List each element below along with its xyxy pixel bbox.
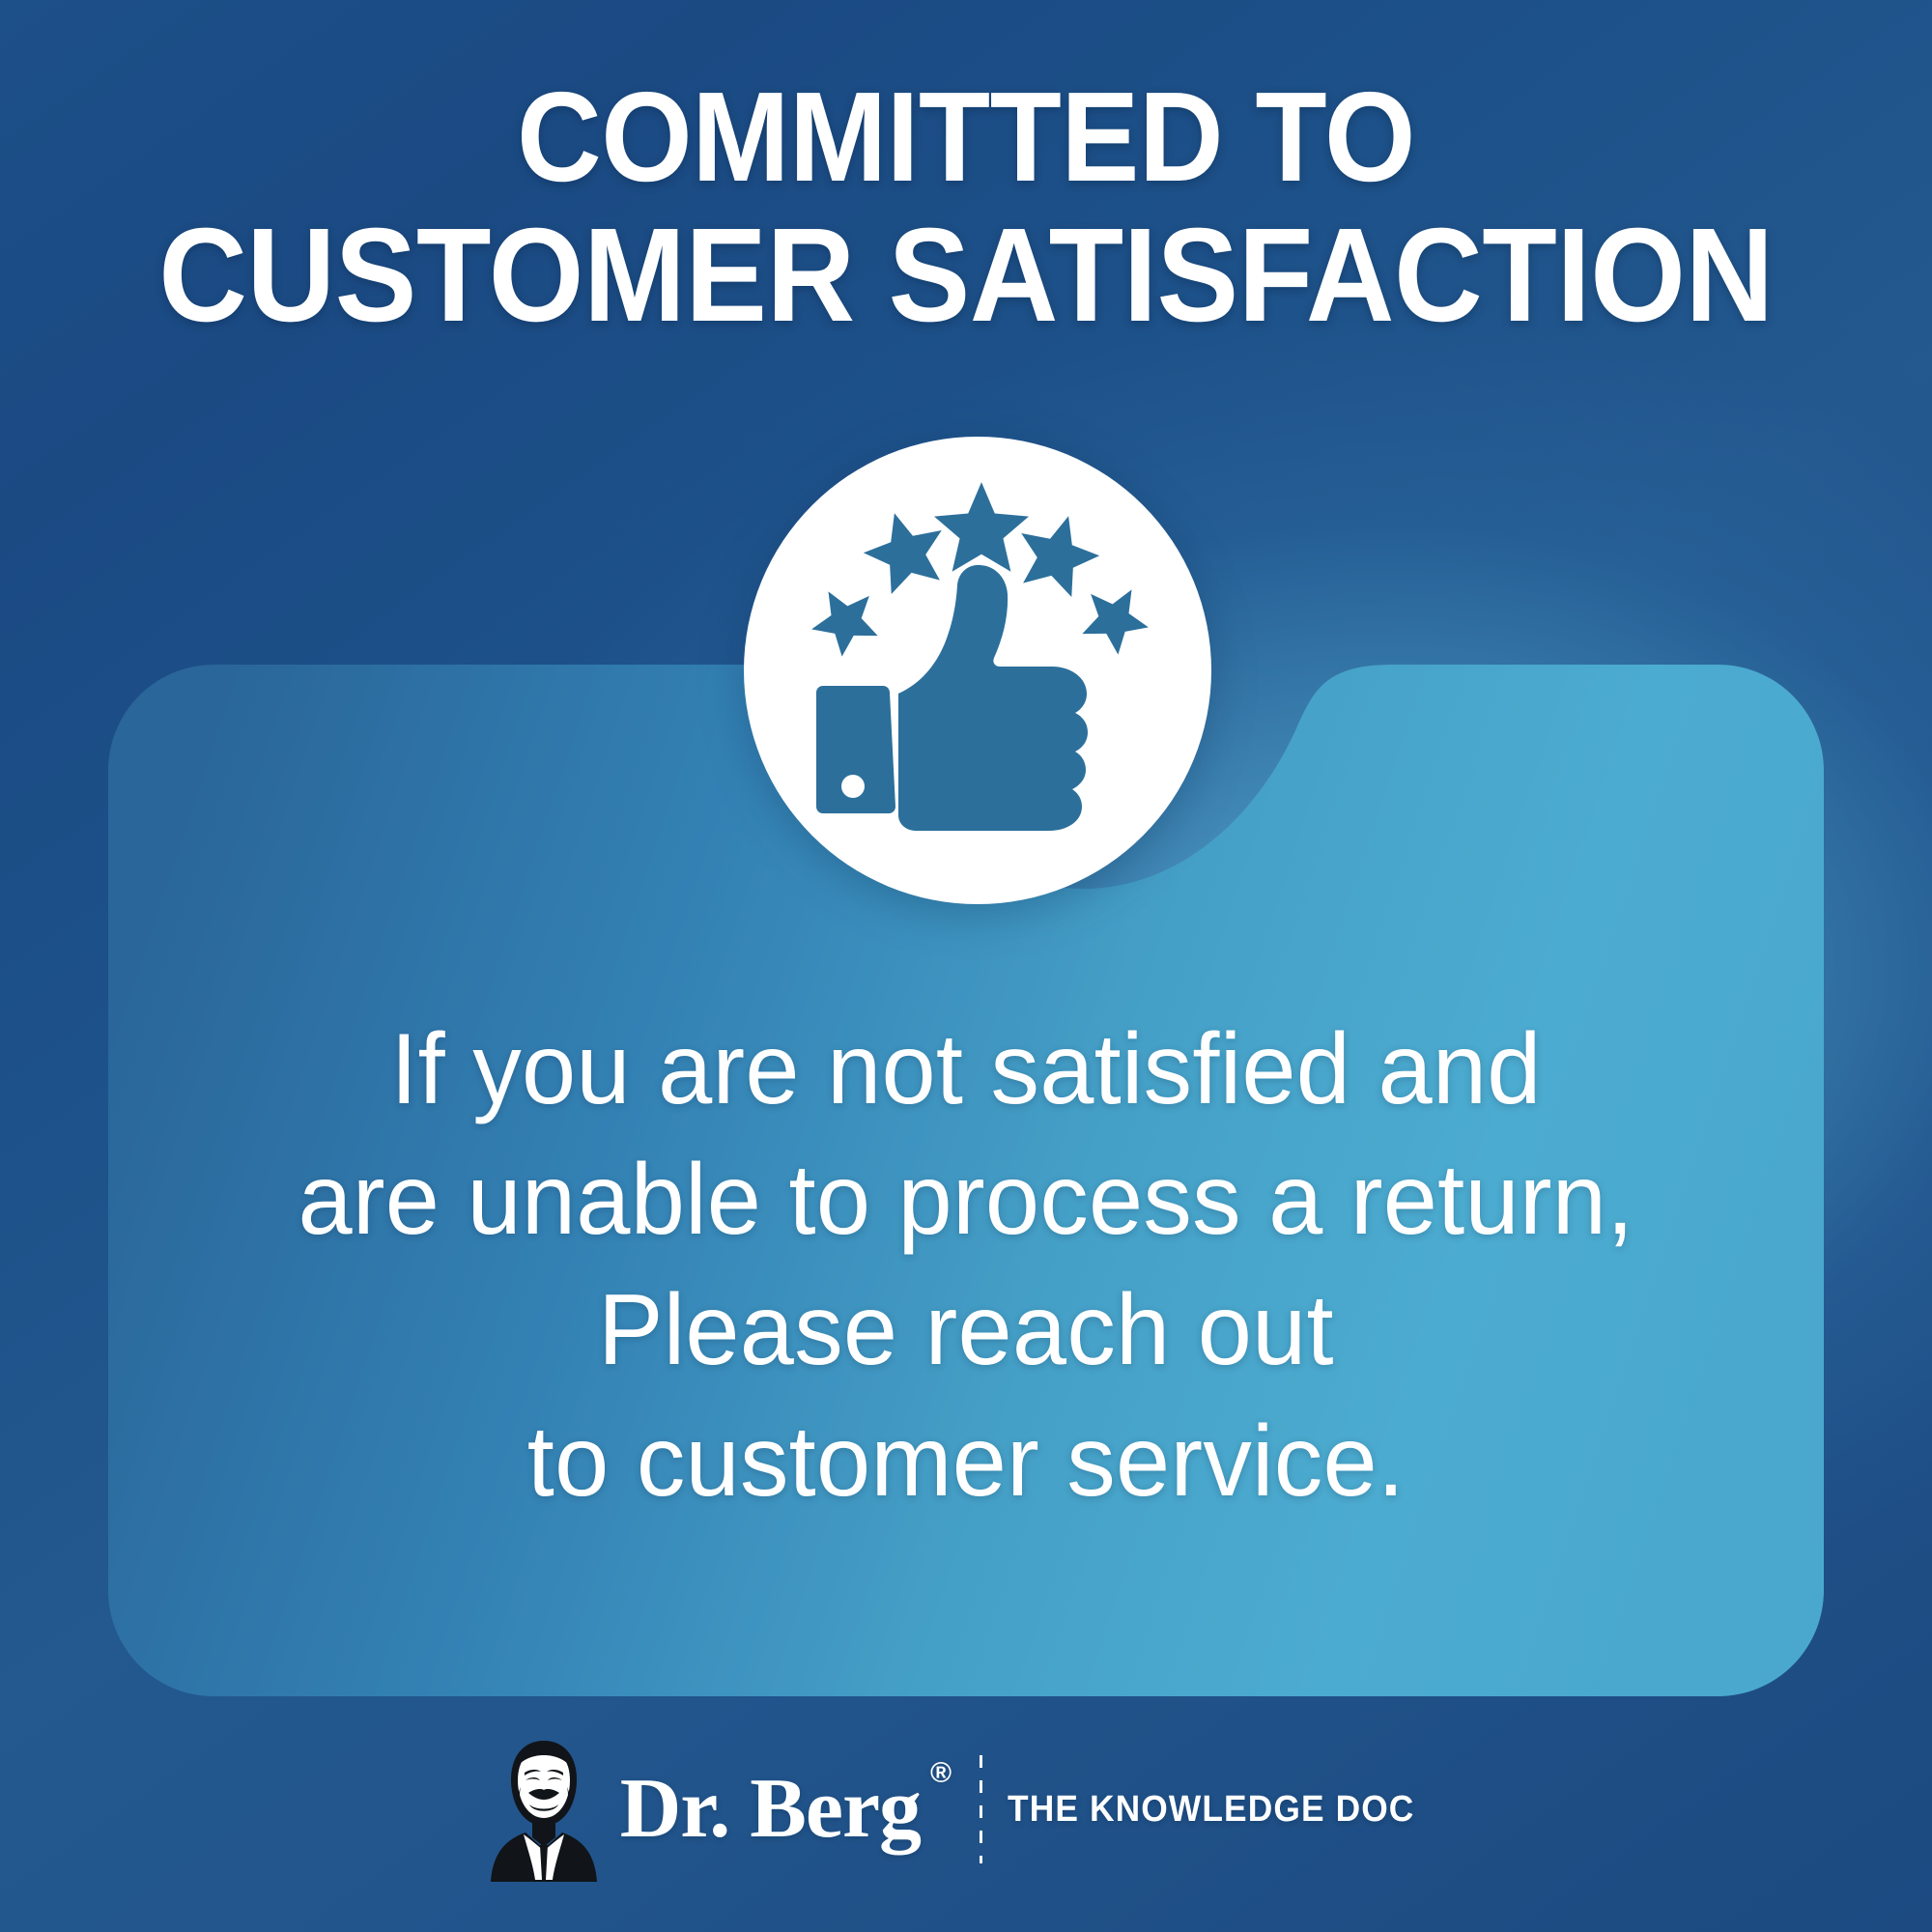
registered-mark-icon: ® [930, 1757, 951, 1789]
footer-divider [980, 1755, 982, 1863]
title-line-1: COMMITTED TO [113, 70, 1819, 205]
body-line-3: Please reach out [141, 1265, 1790, 1396]
page-title: COMMITTED TO CUSTOMER SATISFACTION [0, 70, 1932, 346]
body-message: If you are not satisfied and are unable … [116, 1005, 1816, 1527]
brand-name: Dr. Berg [620, 1762, 921, 1856]
brand-wordmark: Dr. Berg® [620, 1767, 951, 1852]
poster-canvas: COMMITTED TO CUSTOMER SATISFACTION [0, 0, 1932, 1932]
body-line-2: are unable to process a return, [141, 1135, 1790, 1265]
thumbs-up-stars-icon [744, 437, 1211, 904]
brand-footer: Dr. Berg® THE KNOWLEDGE DOC [0, 1737, 1932, 1882]
dr-berg-portrait-icon [487, 1737, 601, 1882]
title-line-2: CUSTOMER SATISFACTION [113, 205, 1819, 346]
cuff-button [841, 775, 865, 798]
body-line-4: to customer service. [141, 1397, 1790, 1527]
thumbs-up-icon-svg [744, 437, 1211, 904]
brand-tagline: THE KNOWLEDGE DOC [1008, 1789, 1414, 1831]
body-line-1: If you are not satisfied and [141, 1005, 1790, 1135]
